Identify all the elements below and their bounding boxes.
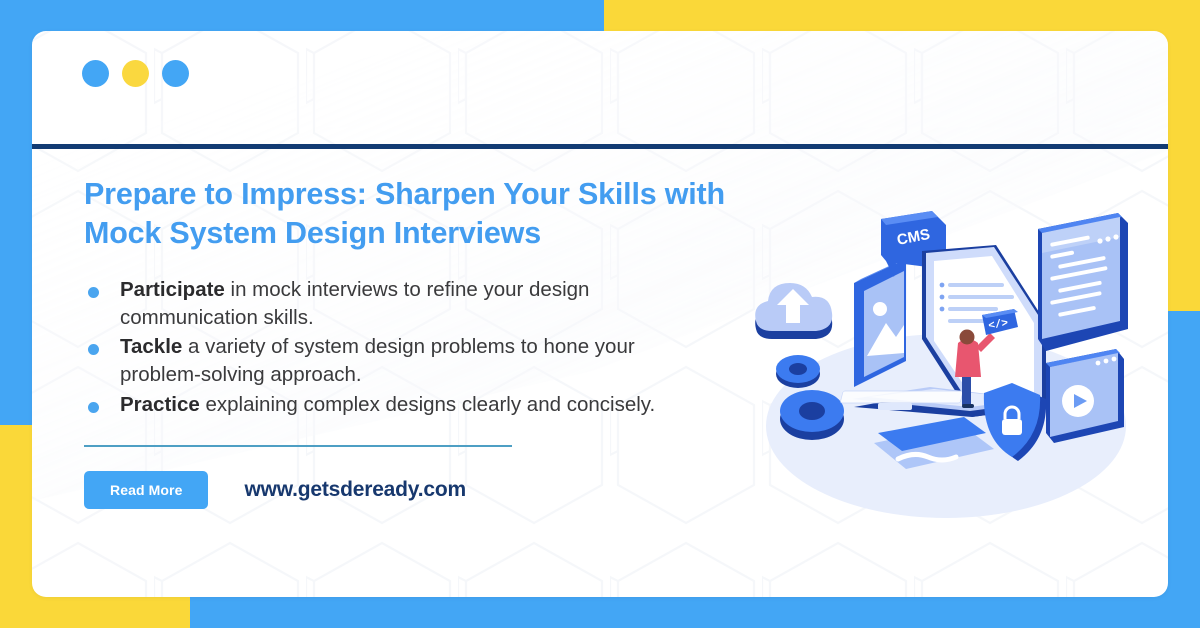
list-item-text: explaining complex designs clearly and c…	[200, 393, 655, 416]
list-item-lead: Tackle	[120, 335, 182, 358]
section-divider	[84, 445, 512, 447]
content-block: Prepare to Impress: Sharpen Your Skills …	[84, 151, 724, 509]
list-item-text: a variety of system design problems to h…	[120, 335, 635, 386]
bullet-dot-icon	[88, 287, 99, 298]
read-more-button[interactable]: Read More	[84, 471, 208, 509]
list-item: Practice explaining complex designs clea…	[84, 391, 694, 419]
window-dot-blue-2-icon[interactable]	[162, 60, 189, 87]
list-item: Participate in mock interviews to refine…	[84, 276, 694, 332]
window-dot-blue-1-icon[interactable]	[82, 60, 109, 87]
list-item-lead: Participate	[120, 278, 225, 301]
chrome-divider-rule	[32, 144, 1168, 149]
benefits-list: Participate in mock interviews to refine…	[84, 276, 724, 419]
bullet-dot-icon	[88, 344, 99, 355]
isometric-workspace-illustration: CMS	[746, 211, 1146, 521]
gear-small-icon	[776, 355, 820, 388]
main-card: Prepare to Impress: Sharpen Your Skills …	[32, 31, 1168, 597]
list-item: Tackle a variety of system design proble…	[84, 333, 694, 389]
list-item-lead: Practice	[120, 393, 200, 416]
site-url-text[interactable]: www.getsdeready.com	[244, 478, 465, 502]
gear-large-icon	[780, 390, 844, 440]
bullet-dot-icon	[88, 402, 99, 413]
window-dot-yellow-icon[interactable]	[122, 60, 149, 87]
cloud-upload-icon	[755, 283, 832, 339]
code-window-icon	[1038, 213, 1128, 351]
video-player-icon	[1046, 349, 1124, 443]
page-title: Prepare to Impress: Sharpen Your Skills …	[84, 175, 784, 254]
browser-chrome-bar	[32, 31, 1168, 115]
footer-row: Read More www.getsdeready.com	[84, 471, 724, 509]
